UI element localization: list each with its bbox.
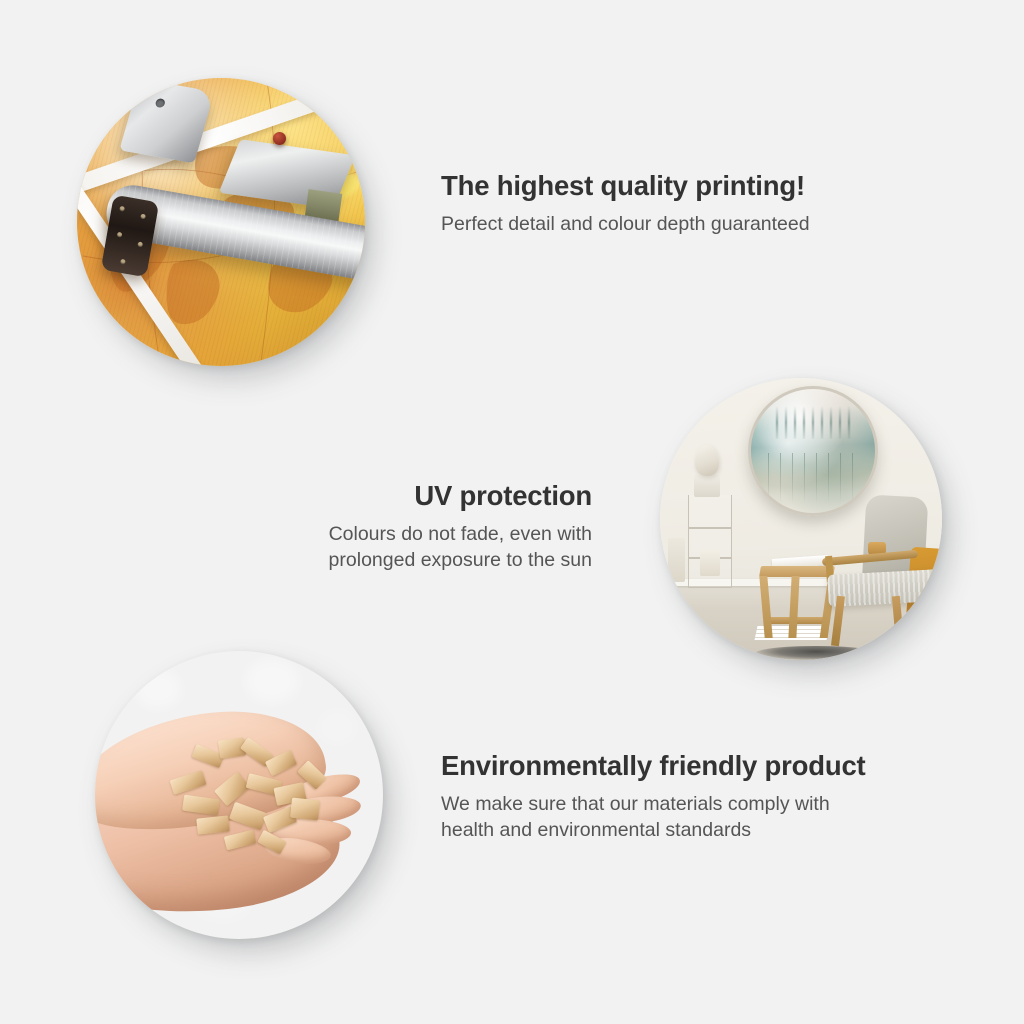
feature-image-uv <box>660 378 942 660</box>
feature-image-printing <box>77 78 365 366</box>
feature-subline-uv-line-1: Colours do not fade, even with <box>329 521 592 547</box>
feature-text-printing: The highest quality printing! Perfect de… <box>441 170 810 237</box>
feature-text-uv: UV protection Colours do not fade, even … <box>329 480 592 573</box>
bokeh-light <box>135 669 181 709</box>
infographic-canvas: The highest quality printing! Perfect de… <box>0 0 1024 1024</box>
stool-leg <box>788 576 799 638</box>
floor-rug <box>756 646 876 660</box>
feature-headline-uv: UV protection <box>329 480 592 512</box>
printing-scene <box>77 78 365 366</box>
red-knob <box>273 132 286 145</box>
shelf-candle <box>700 550 720 576</box>
wood-chips <box>167 739 337 855</box>
tall-candle <box>668 538 685 582</box>
feature-image-eco <box>95 651 383 939</box>
feature-subline-eco: We make sure that our materials comply w… <box>441 791 866 843</box>
eco-scene <box>95 651 383 939</box>
bokeh-light <box>245 659 299 703</box>
stool-leg <box>759 576 772 638</box>
feature-subline-uv-line-2: prolonged exposure to the sun <box>329 547 592 573</box>
interior-scene <box>660 378 942 660</box>
artwork-treeline <box>773 406 852 438</box>
feature-subline-printing-line-1: Perfect detail and colour depth guarante… <box>441 211 810 237</box>
feature-subline-eco-line-1: We make sure that our materials comply w… <box>441 791 866 817</box>
feature-subline-printing: Perfect detail and colour depth guarante… <box>441 211 810 237</box>
feature-text-eco: Environmentally friendly product We make… <box>441 750 866 843</box>
bust-plinth <box>694 475 720 497</box>
bust-sculpture <box>695 445 719 476</box>
armchair-leg <box>892 596 904 647</box>
feature-subline-uv: Colours do not fade, even with prolonged… <box>329 521 592 573</box>
armchair <box>820 496 942 646</box>
feature-headline-eco: Environmentally friendly product <box>441 750 866 782</box>
feature-subline-eco-line-2: health and environmental standards <box>441 817 866 843</box>
feature-headline-printing: The highest quality printing! <box>441 170 810 202</box>
